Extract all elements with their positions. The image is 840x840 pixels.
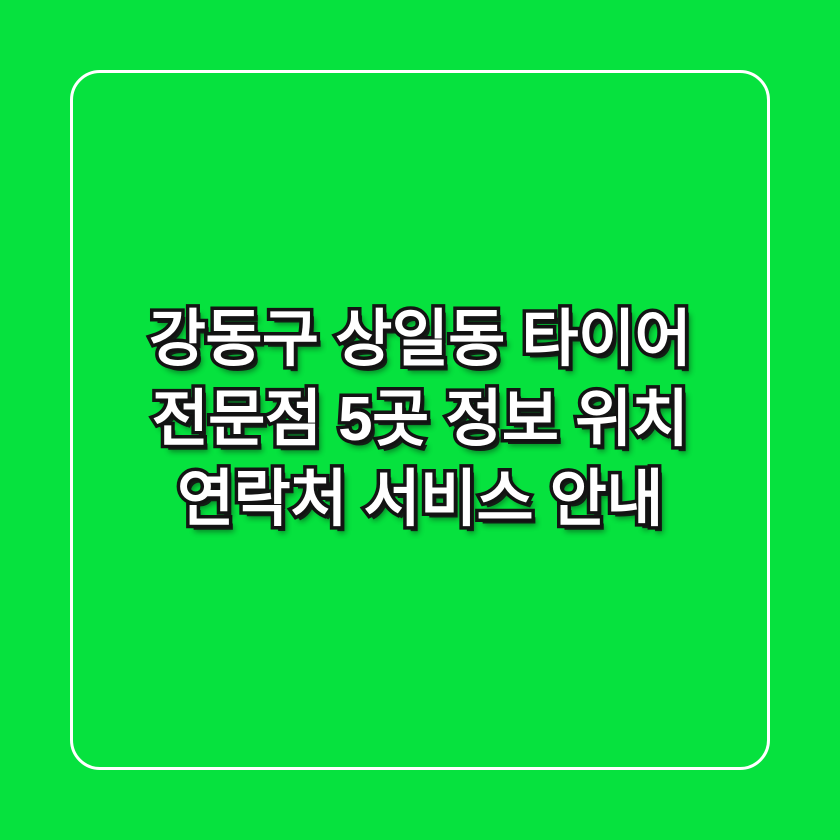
headline-line-3: 연락처 서비스 안내 — [88, 460, 752, 540]
page-title: 강동구 상일동 타이어 전문점 5곳 정보 위치 연락처 서비스 안내 — [88, 300, 752, 540]
headline-block: 강동구 상일동 타이어 전문점 5곳 정보 위치 연락처 서비스 안내 — [70, 70, 770, 770]
headline-line-2: 전문점 5곳 정보 위치 — [88, 380, 752, 460]
poster-canvas: 강동구 상일동 타이어 전문점 5곳 정보 위치 연락처 서비스 안내 강동구 … — [0, 0, 840, 840]
headline-line-1: 강동구 상일동 타이어 — [88, 300, 752, 380]
